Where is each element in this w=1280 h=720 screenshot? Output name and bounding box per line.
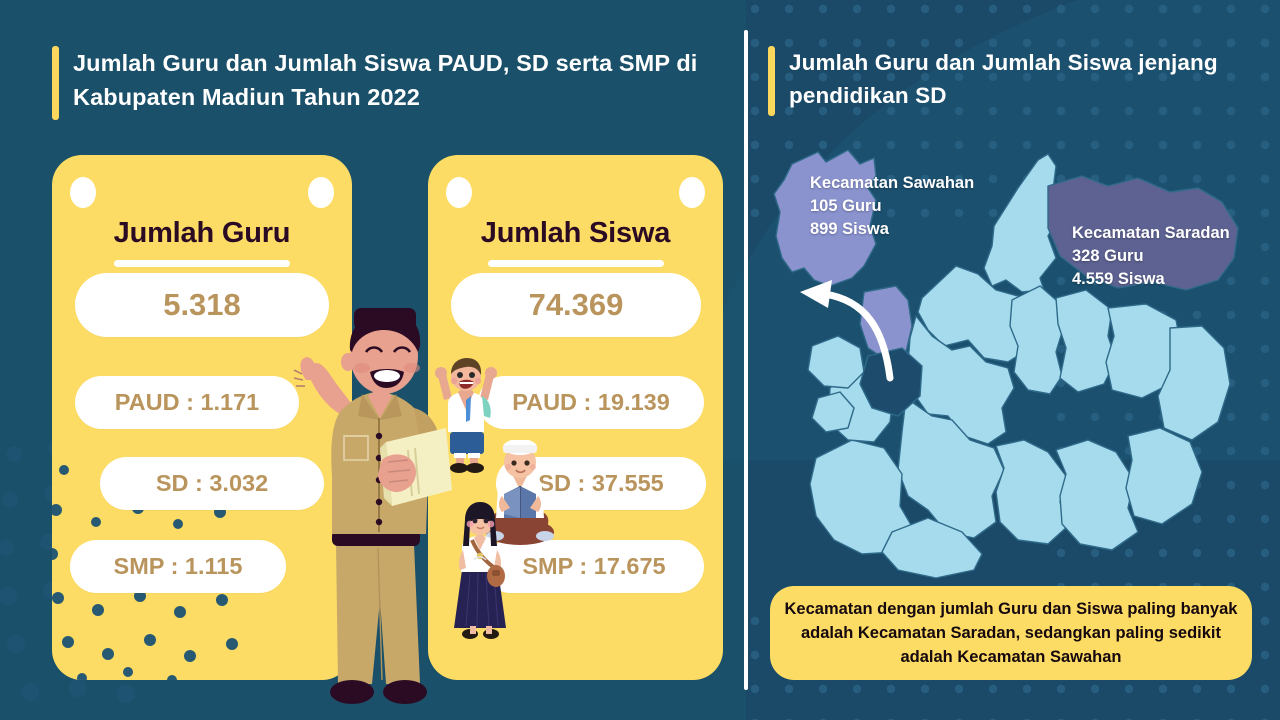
guru-paud-pill: PAUD : 1.171 xyxy=(75,376,299,429)
infographic-canvas: Jumlah Guru dan Jumlah Siswa PAUD, SD se… xyxy=(0,0,1280,720)
title-accent-bar xyxy=(52,46,59,120)
siswa-smp-pill: SMP : 17.675 xyxy=(484,540,704,593)
map-region-default-west-lobe xyxy=(808,336,864,388)
card-title-siswa: Jumlah Siswa xyxy=(428,217,723,250)
map-callout-arrowhead xyxy=(800,280,832,308)
map-label-sawahan-guru: 105 Guru xyxy=(810,195,974,218)
guru-smp-pill: SMP : 1.115 xyxy=(70,540,286,593)
map-region-default-north xyxy=(984,154,1058,292)
card-title-guru: Jumlah Guru xyxy=(52,217,352,250)
card-punch-hole-right xyxy=(679,177,705,208)
map-label-saradan: Kecamatan Saradan 328 Guru 4.559 Siswa xyxy=(1072,222,1230,291)
map-label-saradan-siswa: 4.559 Siswa xyxy=(1072,268,1230,291)
map-label-saradan-name: Kecamatan Saradan xyxy=(1072,222,1230,245)
card-title-underline xyxy=(488,260,664,267)
stat-card-jumlah-siswa: Jumlah Siswa 74.369 PAUD : 19.139 SD : 3… xyxy=(428,155,723,680)
right-section-title: Jumlah Guru dan Jumlah Siswa jenjang pen… xyxy=(768,46,1238,116)
stat-card-jumlah-guru: Jumlah Guru 5.318 PAUD : 1.171 SD : 3.03… xyxy=(52,155,352,680)
right-title-text: Jumlah Guru dan Jumlah Siswa jenjang pen… xyxy=(789,46,1238,112)
left-section-title: Jumlah Guru dan Jumlah Siswa PAUD, SD se… xyxy=(52,46,712,120)
left-title-text: Jumlah Guru dan Jumlah Siswa PAUD, SD se… xyxy=(73,46,712,114)
siswa-sd-pill: SD : 37.555 xyxy=(496,457,706,510)
map-region-default-south-b xyxy=(996,440,1068,544)
siswa-total-pill: 74.369 xyxy=(451,273,701,337)
card-punch-hole-left xyxy=(446,177,472,208)
guru-total-pill: 5.318 xyxy=(75,273,329,337)
map-region-default-south-c xyxy=(1056,440,1138,550)
card-punch-hole-left xyxy=(70,177,96,208)
card-punch-hole-right xyxy=(308,177,334,208)
siswa-paud-pill: PAUD : 19.139 xyxy=(478,376,704,429)
guru-sd-pill: SD : 3.032 xyxy=(100,457,324,510)
map-label-sawahan: Kecamatan Sawahan 105 Guru 899 Siswa xyxy=(810,172,974,241)
map-caption-text: Kecamatan dengan jumlah Guru dan Siswa p… xyxy=(784,597,1238,669)
vertical-divider xyxy=(744,30,748,690)
map-region-default-east-a xyxy=(1056,290,1116,392)
map-label-saradan-guru: 328 Guru xyxy=(1072,245,1230,268)
map-label-sawahan-siswa: 899 Siswa xyxy=(810,218,974,241)
title-accent-bar xyxy=(768,46,775,116)
card-title-underline xyxy=(114,260,290,267)
map-label-sawahan-name: Kecamatan Sawahan xyxy=(810,172,974,195)
map-region-default-southeast xyxy=(1126,428,1202,524)
map-caption-box: Kecamatan dengan jumlah Guru dan Siswa p… xyxy=(770,586,1252,680)
